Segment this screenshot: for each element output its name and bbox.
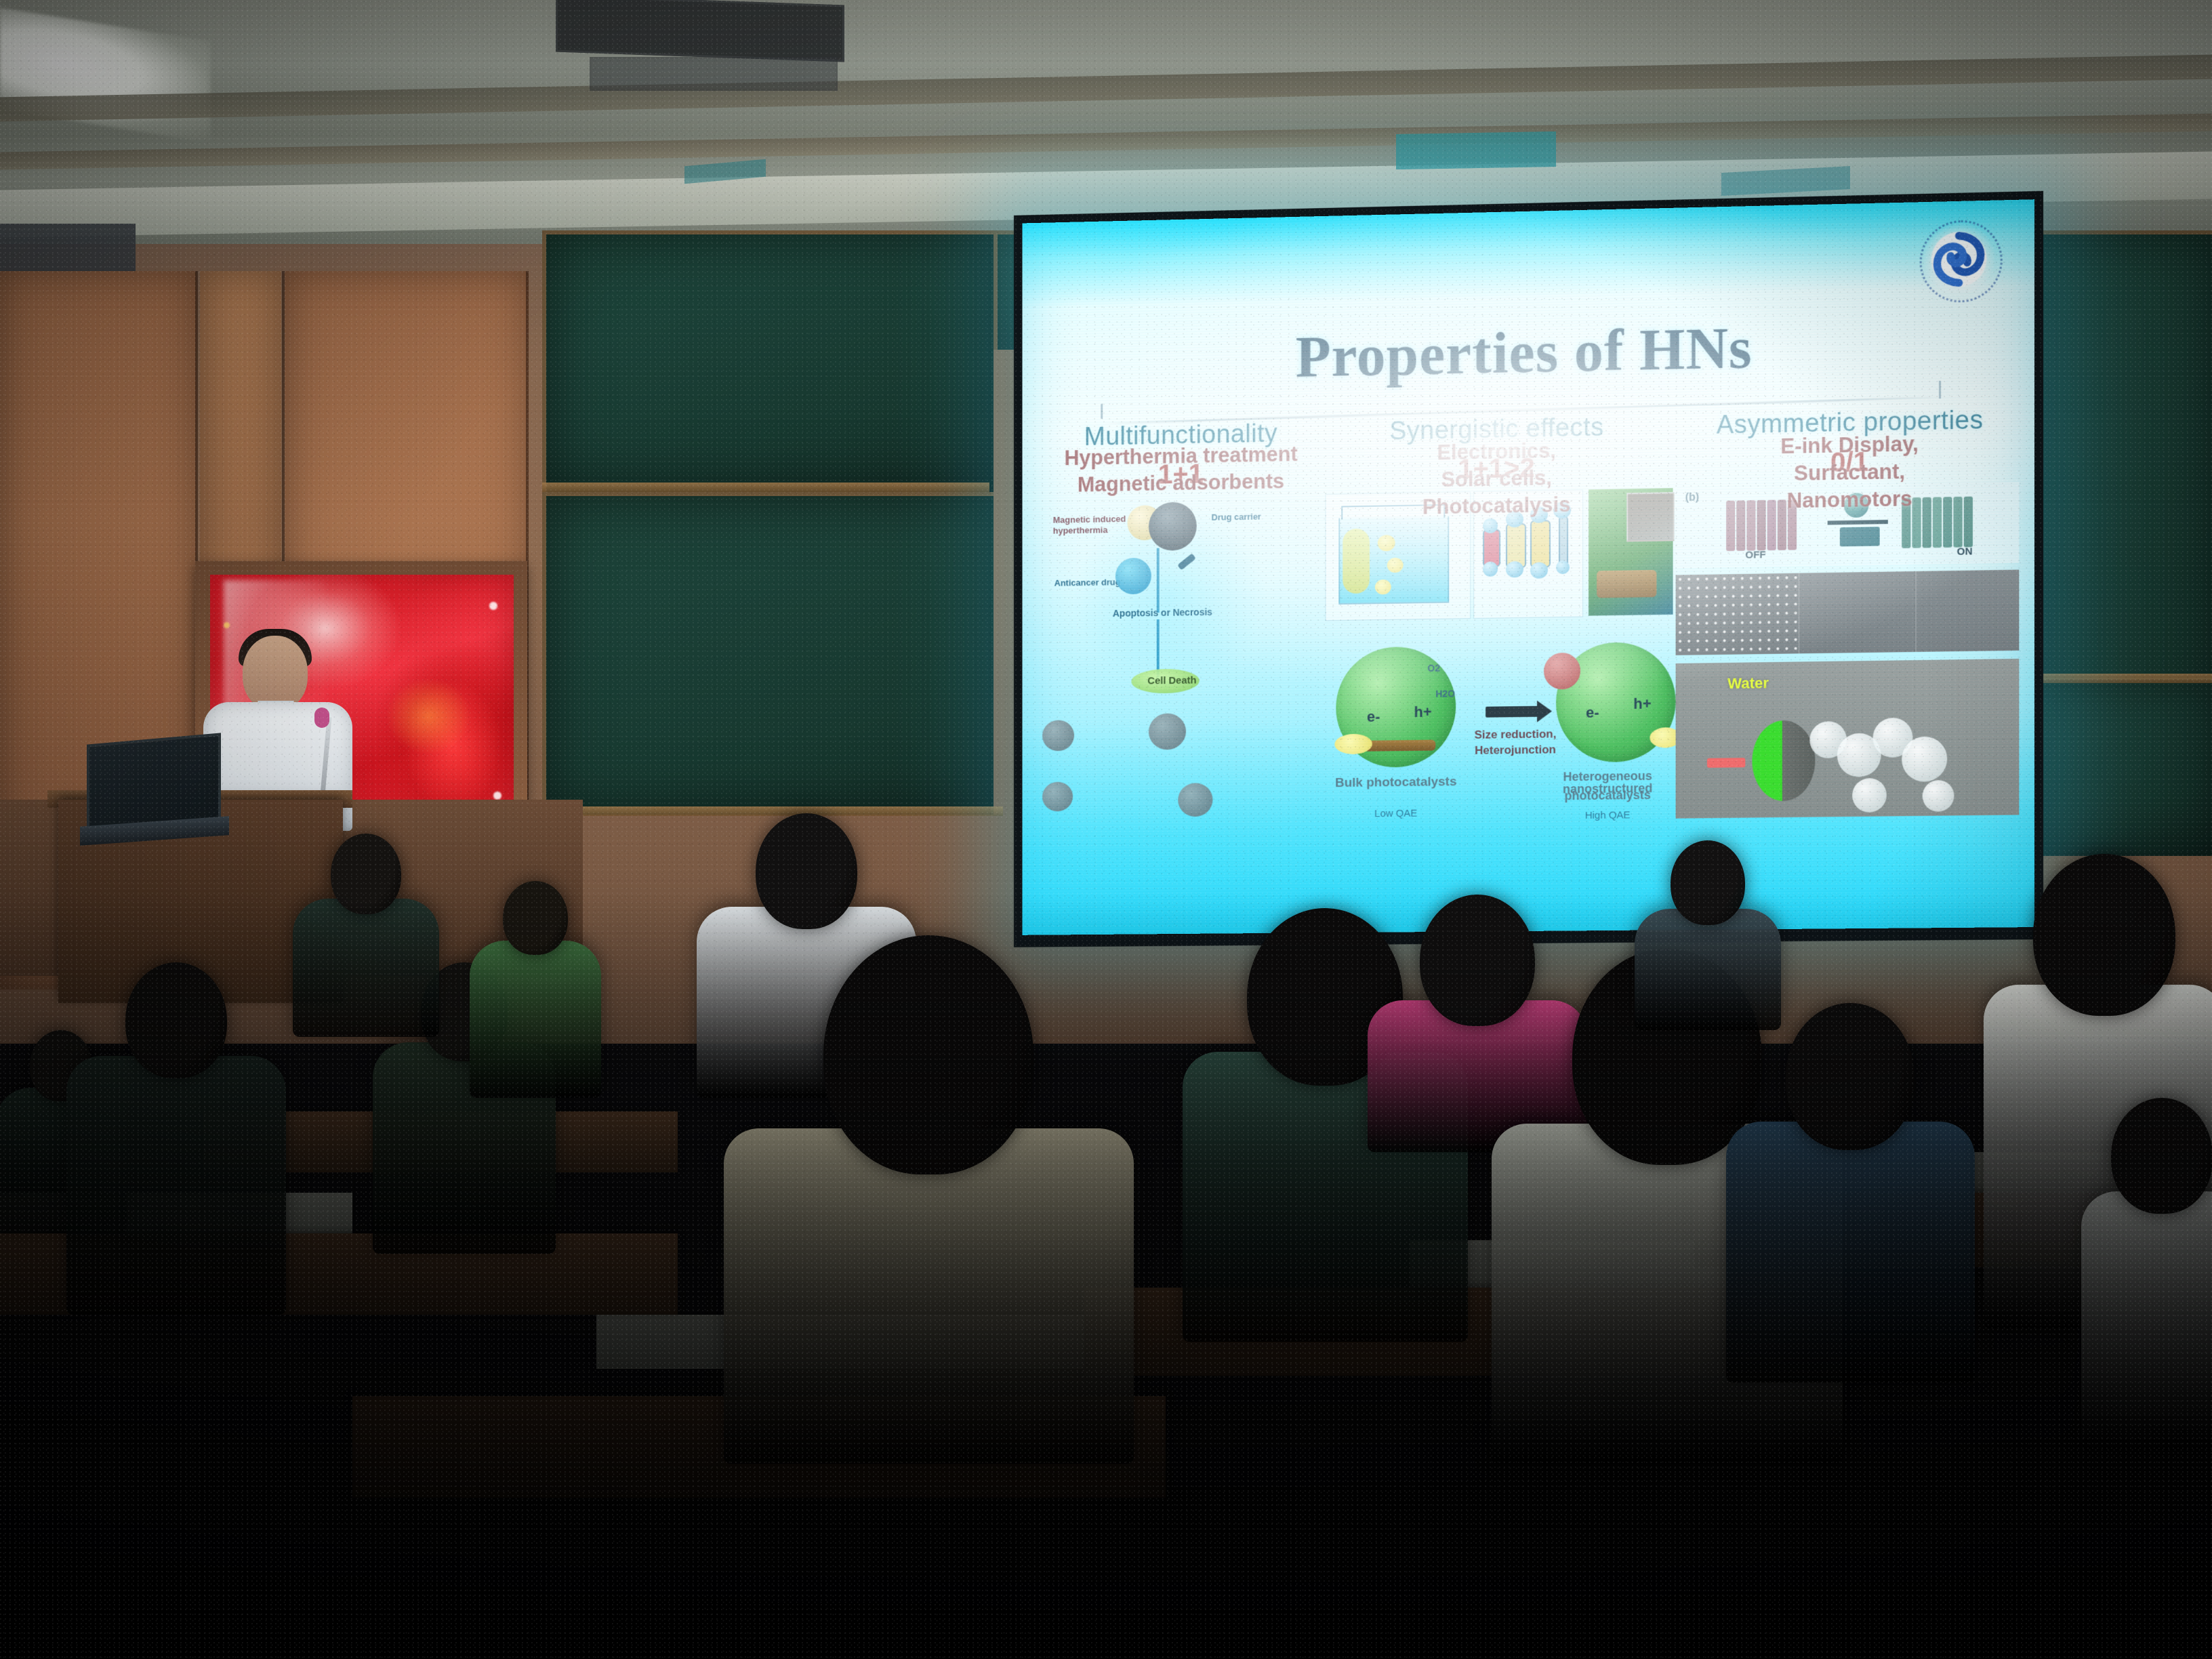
audience-head: [503, 881, 568, 955]
janus-particle: [1752, 720, 1815, 802]
title-divider-tick: [1939, 381, 1941, 398]
species-label: O2: [1427, 663, 1440, 674]
chalkboard: [542, 492, 994, 815]
figure-label: Bulk photocatalysts: [1325, 776, 1467, 790]
tem-dot-array: [1676, 573, 1799, 655]
audience-torso: [1726, 1122, 1975, 1382]
gas-bubble: [1923, 780, 1954, 812]
slide-column-asymmetric: Asymmetric properties 0/1 (b): [1673, 405, 2028, 481]
audience-head: [2111, 1098, 2212, 1214]
chalkboard: [542, 230, 994, 492]
presenter-head: [243, 636, 308, 710]
column-footer: Hyperthermia treatment Magnetic adsorben…: [1041, 441, 1321, 499]
electrode: [1343, 529, 1370, 594]
footer-line: Magnetic adsorbents: [1041, 467, 1321, 499]
state-label-on: ON: [1957, 546, 1973, 558]
scale-marker: [1707, 758, 1745, 768]
chalk-rail: [542, 483, 989, 492]
figure-label: Low QAE: [1325, 807, 1467, 821]
banner-highlight: [489, 602, 497, 610]
audience-torso: [470, 941, 601, 1098]
toggle-body: [1840, 527, 1880, 546]
figure-label: photocatalysts: [1534, 788, 1681, 802]
audience-member: [1640, 840, 1776, 1030]
hole-label: h+: [1633, 695, 1651, 713]
figure-label: High QAE: [1534, 809, 1681, 823]
university-swirl-logo: [1915, 216, 2002, 304]
swirl-icon: [1929, 229, 1989, 289]
figure-multifunctionality: Magnetic induced hyperthermia Drug carri…: [1041, 498, 1321, 838]
state-label-off: OFF: [1745, 549, 1765, 561]
figure-label: Cell Death: [1142, 675, 1202, 687]
cell-particle: [1178, 783, 1212, 817]
transform-caption: Size reduction, Heterojunction: [1468, 726, 1563, 758]
transform-arrow: [1486, 706, 1538, 718]
title-divider-tick: [1101, 404, 1103, 419]
column-footer: Electronics, Solar cells, Photocatalysis: [1322, 435, 1673, 523]
lecture-hall-photo: Properties of HNs Multifunctionality 1+1…: [0, 0, 2212, 1659]
figure-label: Drug carrier: [1211, 510, 1311, 523]
nanowire: [1559, 516, 1568, 567]
transform-line: Heterojunction: [1468, 741, 1563, 758]
air-vent-icon: [590, 57, 838, 91]
gas-bubble: [1902, 736, 1947, 781]
chalkboard: [2030, 678, 2212, 856]
audience-torso: [724, 1128, 1134, 1464]
audience-torso: [293, 899, 439, 1037]
water-micrograph: Water: [1676, 659, 2020, 819]
audience-head: [1671, 840, 1745, 925]
tem-micrograph: [1676, 570, 2020, 655]
gas-bubble: [1852, 778, 1887, 813]
slide-column-multifunctionality: Multifunctionality 1+1 Magnetic induced …: [1041, 419, 1321, 493]
audience-member: [474, 881, 596, 1098]
banner-highlight: [224, 622, 230, 628]
column-footer: E-ink Display, Surfactant, Nanomotors: [1673, 428, 2028, 516]
slide-column-synergistic: Synergistic effects 1+1>2: [1322, 412, 1673, 487]
tem-divider: [1799, 573, 1799, 654]
audience-member: [739, 935, 1118, 1464]
hole-label: h+: [1414, 703, 1432, 721]
substrate: [1597, 570, 1656, 598]
figure-asymmetric: (b) OFF: [1673, 482, 2028, 842]
flow-arrow: [1157, 548, 1160, 613]
tem-divider: [1915, 571, 1916, 652]
audience-torso: [66, 1056, 286, 1315]
transform-line: Size reduction,: [1468, 726, 1563, 743]
chalk-rail: [2030, 674, 2212, 683]
water-label: Water: [1727, 674, 1769, 693]
species-label: H2O: [1435, 688, 1455, 699]
audience-member: [2087, 1098, 2212, 1450]
audience-head: [756, 813, 857, 929]
audience-head: [331, 834, 401, 914]
audience-torso: [2081, 1191, 2212, 1450]
figure-synergistic: e- h+ O2 H2O Bulk photocatalysts Low QAE…: [1322, 488, 1673, 845]
audience-head: [125, 962, 227, 1078]
audience-member: [298, 834, 434, 1037]
audience-torso: [1635, 909, 1781, 1030]
audience-member: [1735, 1003, 1965, 1382]
cell-particle: [1042, 781, 1073, 811]
figure-label: Apoptosis or Necrosis: [1113, 606, 1246, 619]
electron-label: e-: [1586, 704, 1599, 722]
nanorod: [1530, 520, 1551, 568]
microphone-icon: [314, 708, 329, 728]
projection-screen: Properties of HNs Multifunctionality 1+1…: [1023, 199, 2034, 935]
electron-label: e-: [1367, 708, 1380, 726]
audience-member: [75, 962, 278, 1315]
slide-title: Properties of HNs: [1023, 308, 2034, 396]
banner-highlight: [493, 792, 501, 800]
slide-columns: Multifunctionality 1+1 Magnetic induced …: [1023, 405, 2034, 934]
air-vent-icon: [1396, 131, 1556, 169]
air-vent-icon: [556, 0, 844, 62]
audience-head: [2033, 854, 2175, 1016]
audience-head: [1786, 1003, 1914, 1150]
audience-head: [823, 935, 1033, 1174]
